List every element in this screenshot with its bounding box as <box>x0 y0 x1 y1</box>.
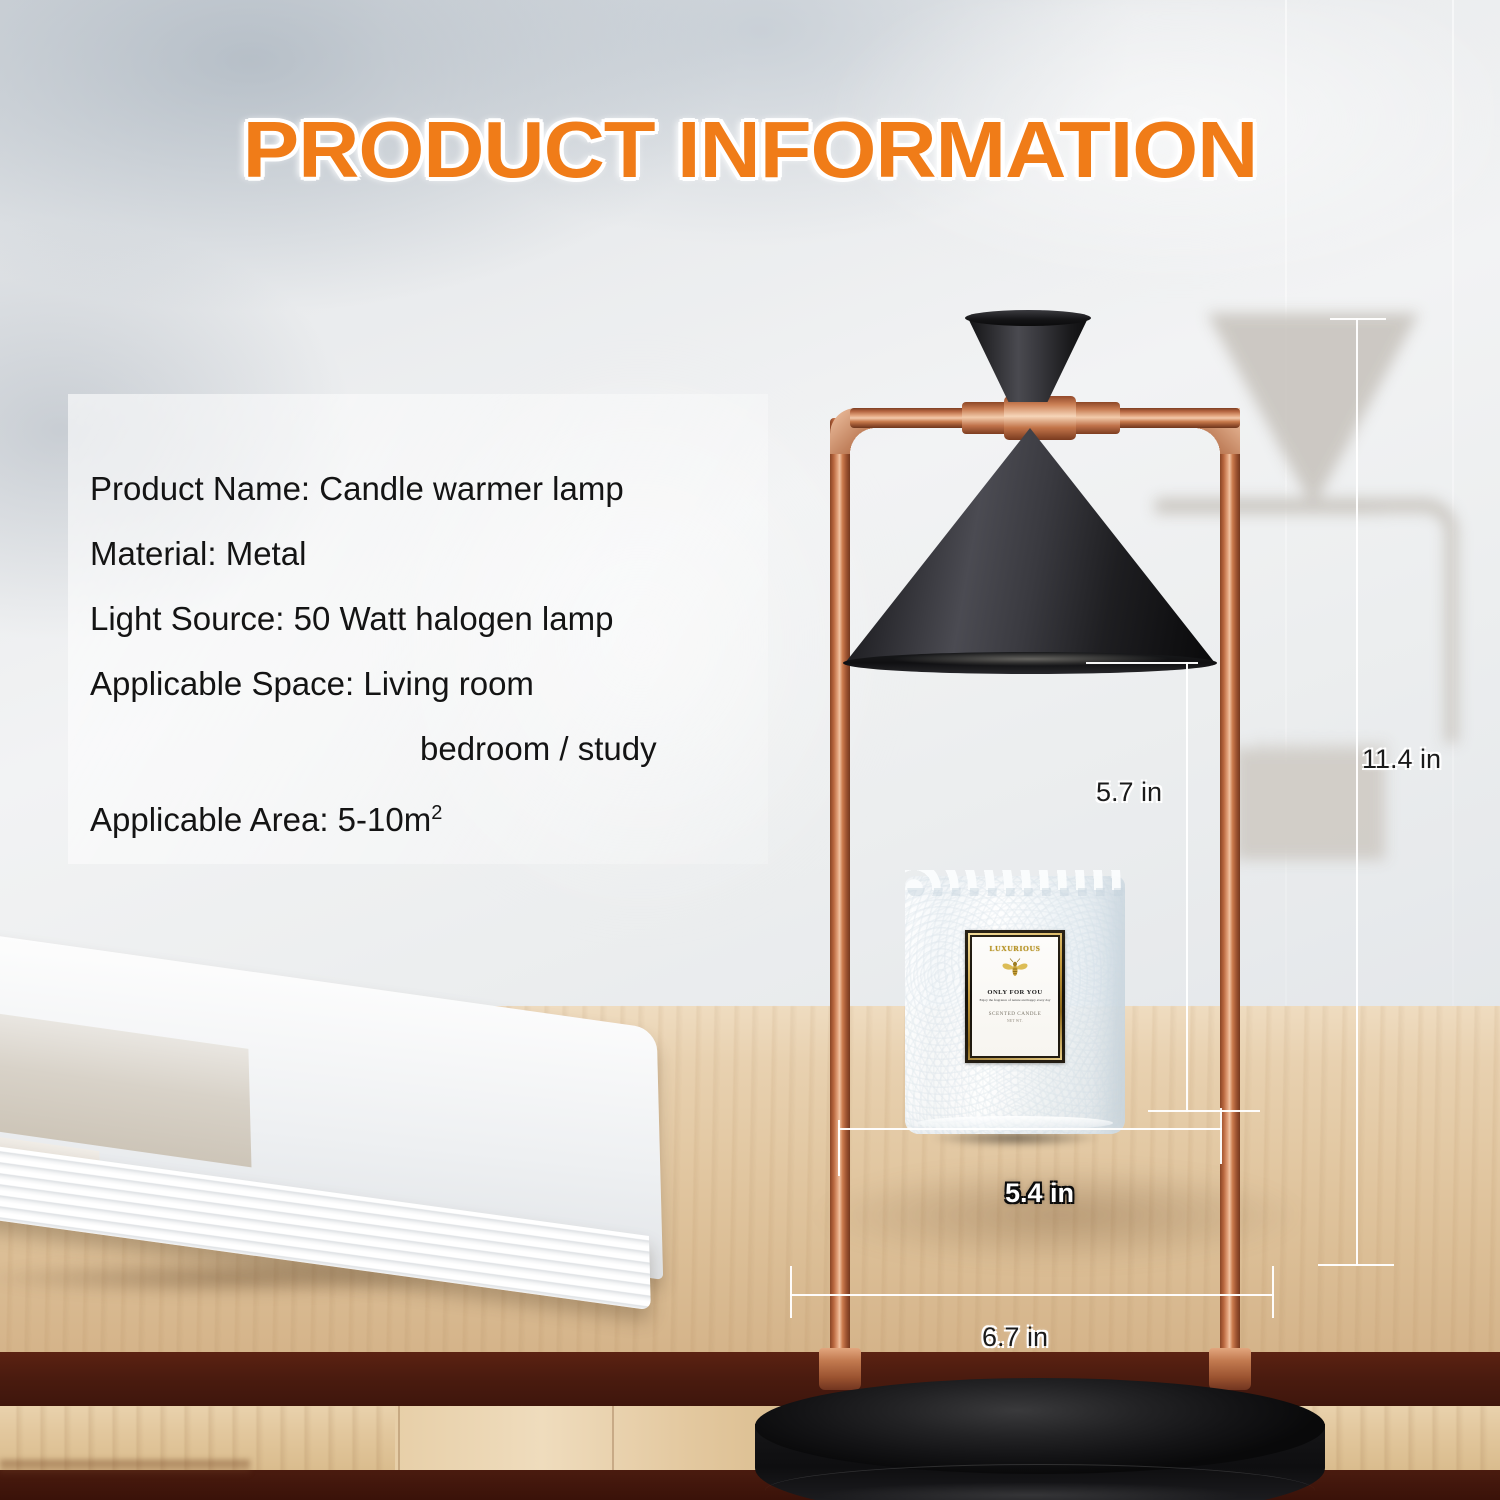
open-book <box>0 980 680 1310</box>
spec-area-text: Applicable Area: 5-10m <box>90 801 431 838</box>
dim-label-54: 5.4 in <box>1005 1178 1074 1209</box>
jar-scallop-shadow-line <box>907 888 1123 896</box>
spec-line-light-source: Light Source: 50 Watt halogen lamp <box>90 586 790 651</box>
jar-scalloped-rim <box>905 870 1125 890</box>
copper-center-connector <box>1004 396 1076 440</box>
shadow-arm <box>1365 498 1458 743</box>
dim-label-67: 6.7 in <box>982 1322 1048 1353</box>
dim-57-bottom-tick <box>1148 1110 1260 1112</box>
copper-post-right <box>1220 418 1240 1386</box>
candle-label: LUXURIOUS ONLY FOR YOU Enjoy the fragran… <box>965 930 1065 1063</box>
dim-114-top-tick <box>1330 318 1386 320</box>
top-cone-rim <box>965 310 1091 326</box>
dim-114-line <box>1356 318 1358 1266</box>
label-brand: LUXURIOUS <box>990 944 1041 953</box>
dim-67-line <box>790 1294 1274 1296</box>
base-top <box>755 1378 1325 1474</box>
dim-114-bottom-tick <box>1318 1264 1394 1266</box>
label-net-weight: NET WT. <box>1007 1019 1023 1023</box>
dim-67-right-tick <box>1272 1266 1274 1318</box>
spec-line-material: Material: Metal <box>90 521 790 586</box>
label-inner: LUXURIOUS ONLY FOR YOU Enjoy the fragran… <box>972 937 1058 1056</box>
spec-list: Product Name: Candle warmer lamp Materia… <box>90 456 790 852</box>
dim-57-top-tick <box>1086 662 1198 664</box>
candle-jar: LUXURIOUS ONLY FOR YOU Enjoy the fragran… <box>905 862 1125 1150</box>
dim-57-line <box>1186 662 1188 1112</box>
bee-icon <box>1000 957 1030 982</box>
product-info-image: LUXURIOUS ONLY FOR YOU Enjoy the fragran… <box>0 0 1500 1500</box>
main-cone-shade <box>845 428 1215 663</box>
page-title: PRODUCT INFORMATION <box>0 104 1500 196</box>
desk-notch <box>0 1460 250 1476</box>
spec-line-applicable-space-cont: bedroom / study <box>90 716 790 781</box>
spec-line-product-name: Product Name: Candle warmer lamp <box>90 456 790 521</box>
dim-67-left-tick <box>790 1266 792 1318</box>
copper-post-left <box>830 418 850 1386</box>
spec-area-superscript: 2 <box>431 802 442 824</box>
lamp-base <box>755 1378 1325 1500</box>
label-headline: ONLY FOR YOU <box>987 989 1042 996</box>
spec-line-applicable-space: Applicable Space: Living room <box>90 651 790 716</box>
label-category: SCENTED CANDLE <box>989 1011 1042 1017</box>
label-subline: Enjoy the fragrance of nature and happy … <box>978 998 1052 1003</box>
dim-label-114: 11.4 in <box>1362 744 1441 775</box>
spec-line-applicable-area: Applicable Area: 5-10m2 <box>90 781 790 852</box>
dim-54-line <box>838 1128 1222 1130</box>
dim-label-57: 5.7 in <box>1096 777 1162 808</box>
dim-54-right-tick <box>1220 1108 1222 1164</box>
